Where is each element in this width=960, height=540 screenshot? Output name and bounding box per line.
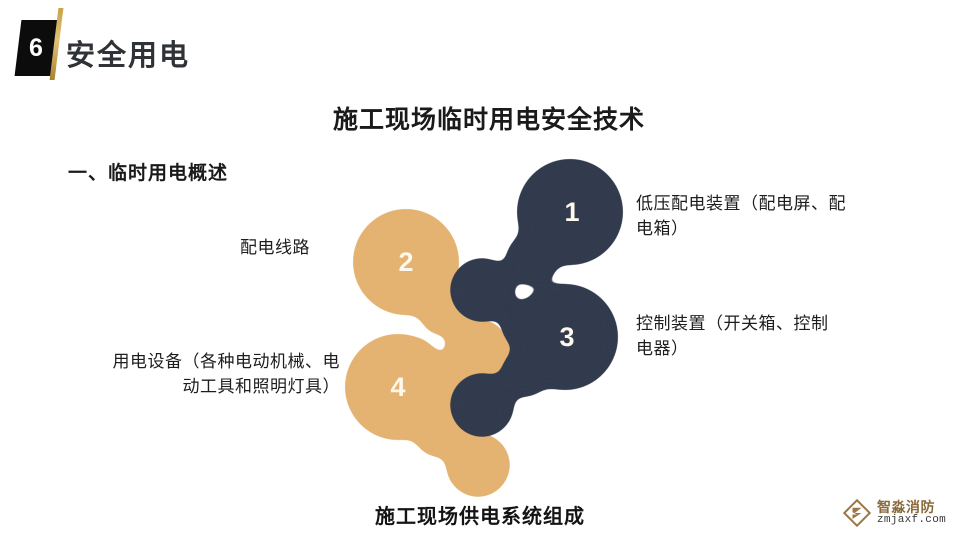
callout-label-4: 用电设备（各种电动机械、电动工具和照明灯具） — [112, 350, 340, 399]
watermark-logo: 智淼消防 zmjaxf.com — [842, 494, 946, 532]
blob-number-1: 1 — [564, 197, 579, 227]
callout-label-3: 控制装置（开关箱、控制电器） — [636, 312, 836, 361]
blob-number-4: 4 — [390, 372, 405, 402]
page-title-text: 施工现场临时用电安全技术 — [315, 106, 645, 134]
page-title: 施工现场临时用电安全技术 — [0, 100, 960, 136]
section-title: 安全用电 — [66, 32, 190, 74]
section-subheading: 一、临时用电概述 — [68, 158, 228, 185]
watermark-brand-name: 智淼消防 — [877, 500, 946, 515]
watermark-url: zmjaxf.com — [877, 515, 946, 527]
supply-system-diagram: 1 2 3 4 — [310, 155, 650, 515]
watermark-text-block: 智淼消防 zmjaxf.com — [877, 500, 946, 526]
slide-header: 6 安全用电 — [0, 0, 960, 88]
section-number-badge-label: 6 — [18, 20, 54, 76]
brand-diamond-icon — [842, 498, 872, 528]
gold-blob-group — [345, 209, 510, 497]
dark-blob-group — [450, 159, 623, 437]
callout-label-2: 配电线路 — [180, 236, 310, 261]
callout-label-1: 低压配电装置（配电屏、配电箱） — [636, 192, 846, 241]
diagram-caption: 施工现场供电系统组成 — [300, 500, 660, 529]
blob-number-3: 3 — [559, 322, 574, 352]
blob-number-2: 2 — [398, 247, 413, 277]
